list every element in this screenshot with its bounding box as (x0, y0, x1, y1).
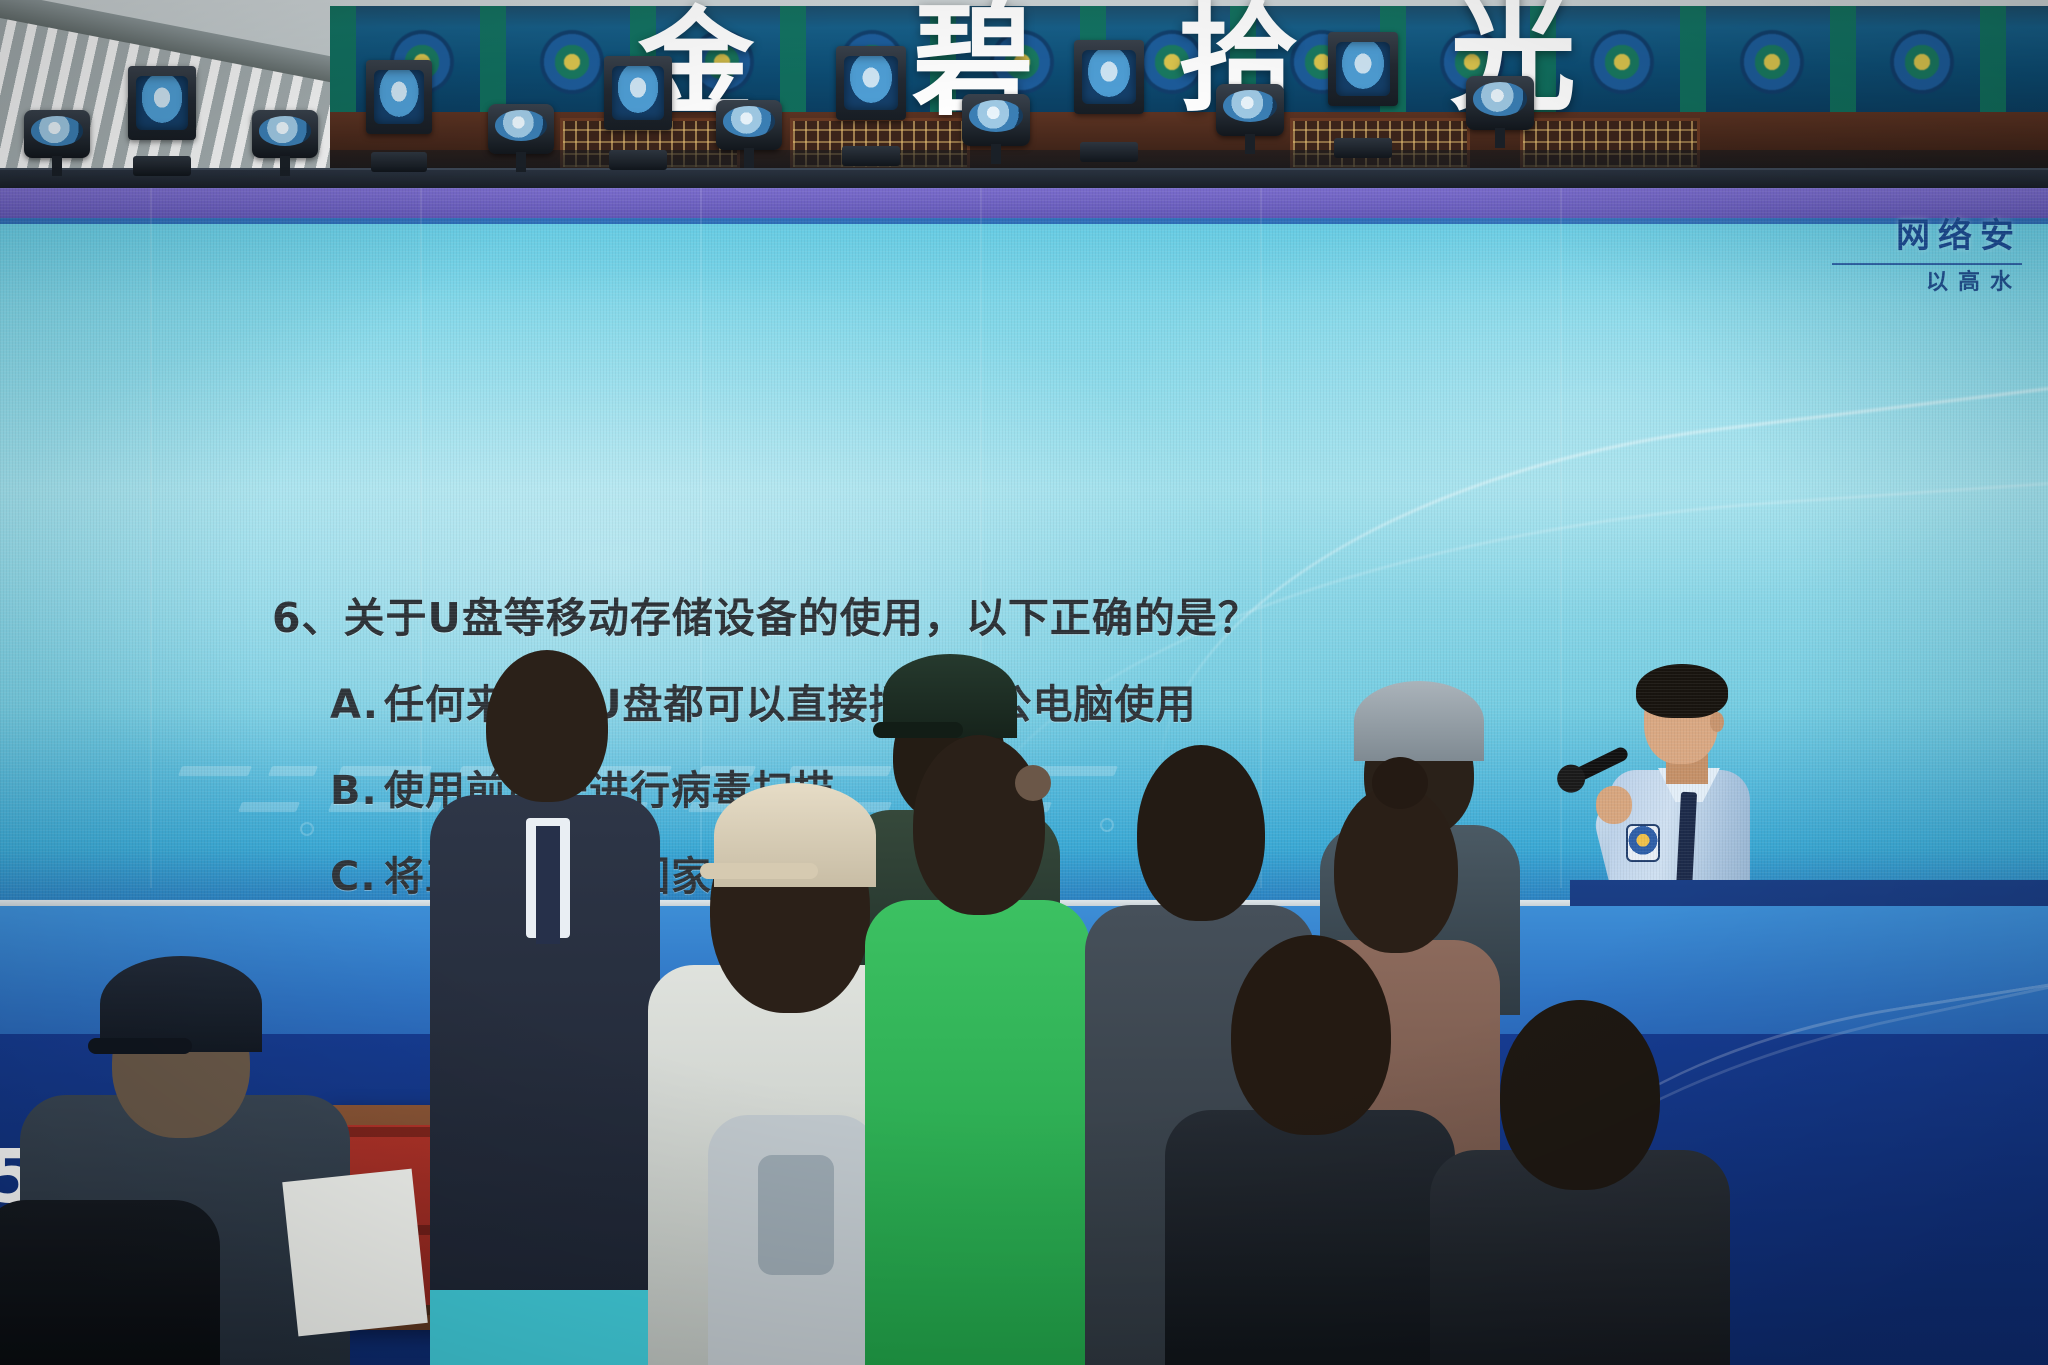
par-can-light (252, 110, 318, 158)
led-side-headline-line2: 以高水 (1832, 271, 2022, 295)
presenter (1570, 658, 1800, 906)
quiz-option-c-label: C. (330, 854, 384, 900)
led-side-headline: 网络安 以高水 (1832, 218, 2022, 296)
audience-man-suit (430, 650, 660, 1365)
audience-man-front-left (0, 1200, 220, 1365)
audience-woman-green (865, 725, 1090, 1365)
audience-man-front-right (1165, 935, 1455, 1365)
led-side-headline-rule (1832, 263, 2022, 265)
quiz-option-b-label: B. (330, 768, 384, 814)
audience-man-far-right (1430, 1000, 1730, 1365)
audience-papers (282, 1169, 427, 1337)
moving-head-light (1328, 32, 1398, 142)
par-can-light (962, 94, 1030, 146)
quiz-question: 6、关于U盘等移动存储设备的使用，以下正确的是？ (272, 584, 1392, 644)
par-can-light (488, 104, 554, 154)
par-can-light (24, 110, 90, 158)
moving-head-light (604, 56, 672, 154)
photo-scene: 金 碧 拾 光 (0, 0, 2048, 1365)
presenter-hair (1636, 664, 1728, 718)
presenter-ear (1710, 712, 1724, 732)
moving-head-light (836, 46, 906, 150)
moving-head-light (128, 66, 196, 160)
moving-head-light (366, 60, 432, 156)
presenter-hand (1596, 786, 1632, 824)
par-can-light (1466, 76, 1534, 130)
par-can-light (716, 100, 782, 150)
quiz-option-a-label: A. (330, 682, 384, 728)
led-side-headline-line1: 网络安 (1832, 218, 2022, 255)
moving-head-light (1074, 40, 1144, 146)
presenter-shoulder-badge (1626, 824, 1660, 862)
par-can-light (1216, 84, 1284, 136)
